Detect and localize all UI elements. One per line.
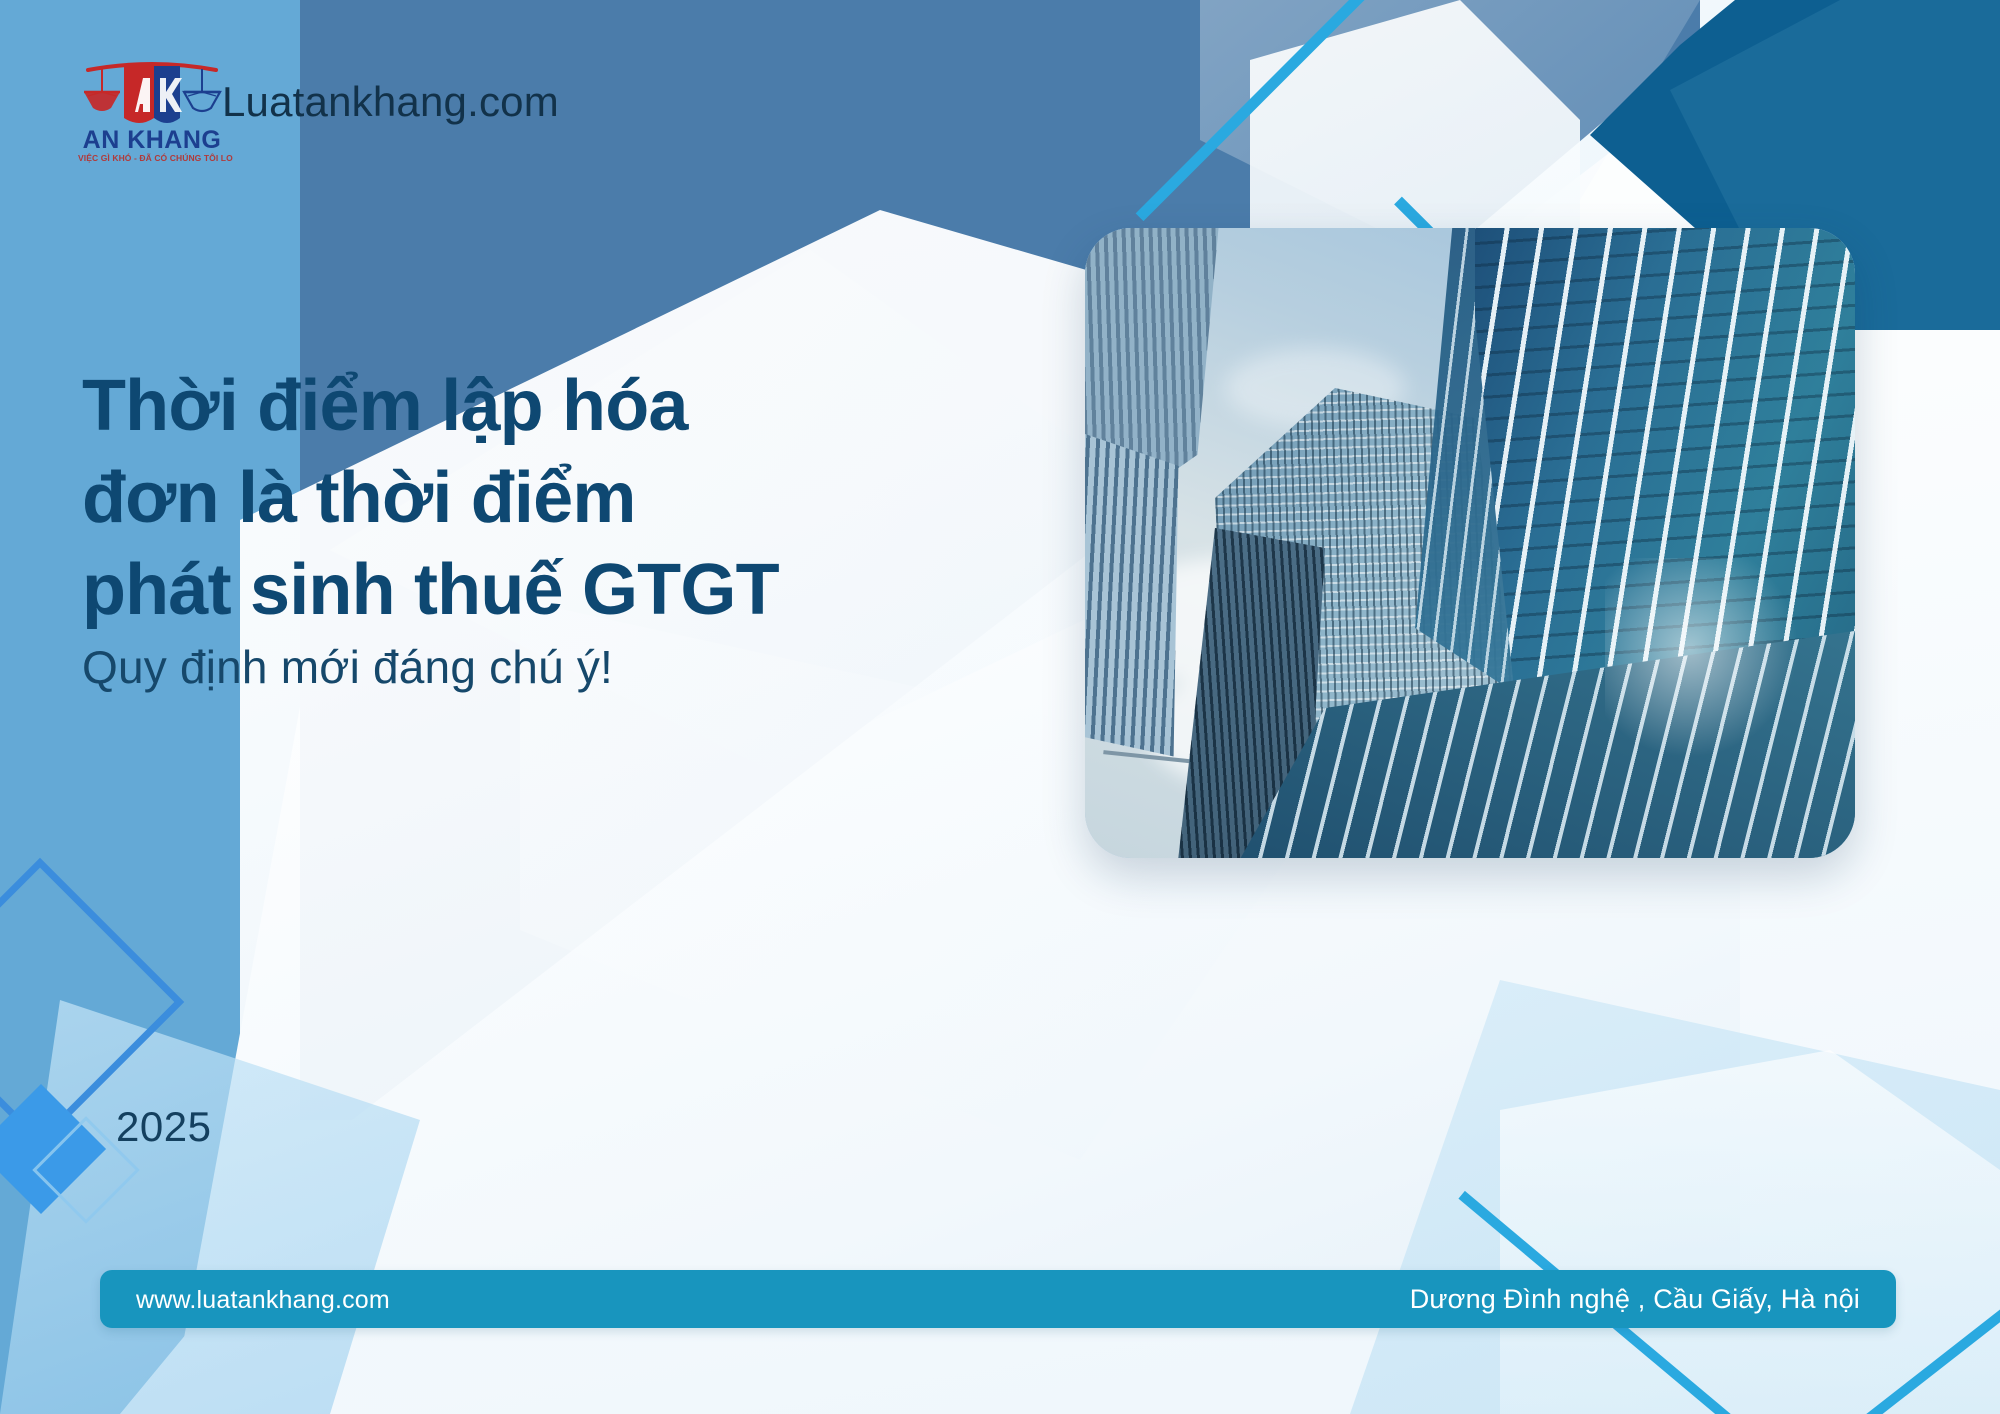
footer-address: Dương Đình nghệ , Cầu Giấy, Hà nội [1410, 1284, 1860, 1315]
page-title-line-1: Thời điểm lập hóa [82, 360, 872, 452]
site-name: Luatankhang.com [222, 78, 559, 126]
page-title-line-3: phát sinh thuế GTGT [82, 544, 872, 636]
poster-canvas: AN KHANG VIỆC GÌ KHÓ - ĐÃ CÓ CHÚNG TÔI L… [0, 0, 2000, 1414]
brand-logo-name: AN KHANG [78, 126, 226, 155]
brand-logo[interactable]: AN KHANG VIỆC GÌ KHÓ - ĐÃ CÓ CHÚNG TÔI L… [78, 52, 226, 164]
footer-website[interactable]: www.luatankhang.com [136, 1286, 390, 1315]
page-subtitle: Quy định mới đáng chú ý! [82, 640, 613, 694]
glass-skyscrapers-photo [1085, 228, 1855, 858]
brand-logo-tagline: VIỆC GÌ KHÓ - ĐÃ CÓ CHÚNG TÔI LO [78, 153, 226, 163]
year-label: 2025 [116, 1103, 211, 1151]
page-title-line-2: đơn là thời điểm [82, 452, 872, 544]
photo-glass-reflection [1605, 558, 1815, 758]
page-title: Thời điểm lập hóa đơn là thời điểm phát … [82, 360, 872, 636]
scales-of-justice-icon [78, 52, 226, 132]
